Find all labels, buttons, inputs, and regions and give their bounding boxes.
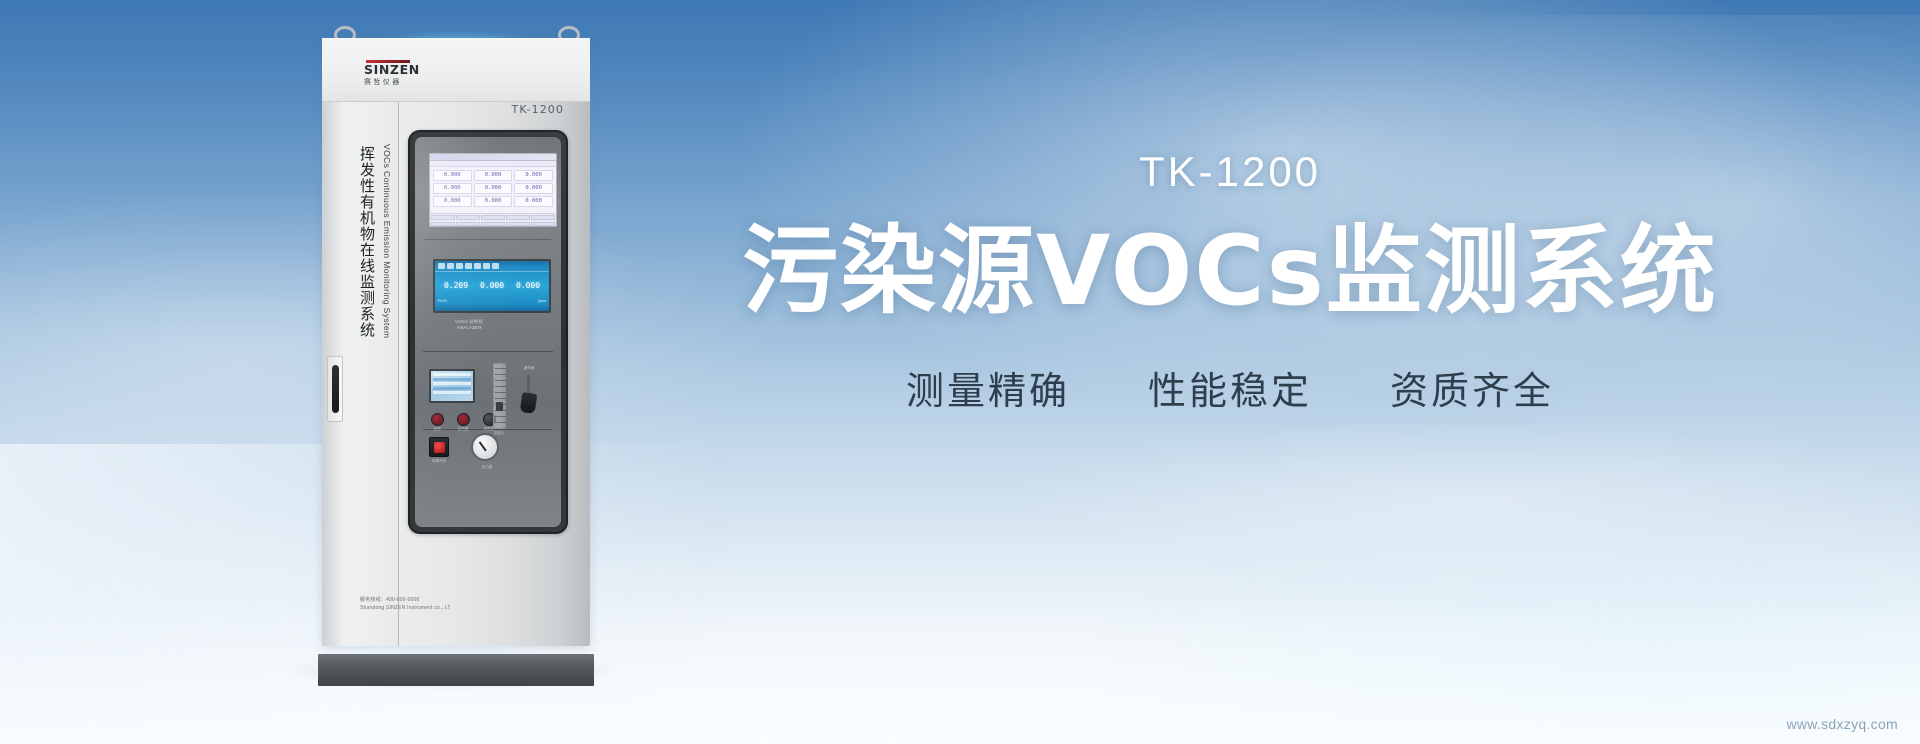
valve-lever	[520, 392, 538, 414]
hmi-footer-toolbar	[430, 213, 556, 226]
flowmeter-float	[496, 402, 503, 411]
hmi-cell: 0.000	[433, 196, 472, 207]
lcd-left-tag: RUN	[438, 298, 447, 303]
hmi-value: 0.000	[515, 172, 552, 179]
product-model-heading: TK-1200	[690, 148, 1770, 196]
secondary-display-row	[433, 391, 471, 394]
pressure-gauge-label: 压力表	[471, 465, 503, 470]
hmi-footer-button	[531, 222, 555, 227]
analyzer-caption-en: ANALYZER	[455, 325, 483, 331]
analyzer-caption: VOCs 分析仪 ANALYZER	[455, 319, 483, 331]
lcd-readout-row: 0.209 0.000 0.000	[435, 272, 549, 298]
cabinet-service-label: 服务热线：400-000-0000 Shandong SINZEN Instru…	[360, 597, 451, 612]
control-knob-power	[431, 413, 444, 426]
company-name-en: Shandong SINZEN Instrument co., LT	[360, 605, 451, 613]
hmi-footer-button	[481, 215, 505, 220]
pressure-gauge-needle	[479, 442, 487, 452]
lcd-status-row: RUN ppm	[435, 298, 549, 303]
lcd-status-icon	[474, 263, 481, 269]
lcd-status-icon	[465, 263, 472, 269]
interior-divider	[423, 429, 553, 430]
interior-divider	[423, 351, 553, 352]
lcd-status-icon	[447, 263, 454, 269]
brand-logo: SINZEN 赛哲仪器	[364, 60, 434, 86]
hmi-value: 0.000	[515, 198, 552, 205]
hmi-value: 0.000	[475, 172, 512, 179]
control-knob-heater	[457, 413, 470, 426]
hmi-footer-button	[506, 215, 530, 220]
power-switch	[429, 437, 449, 457]
secondary-display-row	[433, 382, 471, 385]
hmi-footer-button	[456, 222, 480, 227]
hmi-cell: 0.000	[433, 170, 472, 181]
cabinet-door-interior: 0.000 0.000 0.000 0.000 0.000 0.000 0.00…	[415, 137, 561, 527]
feature-list: 测量精确 性能稳定 资质齐全	[690, 360, 1770, 415]
hmi-cell: 0.000	[514, 170, 553, 181]
flowmeter-scale	[495, 368, 506, 424]
vertical-label-en: VOCs Continuous Emission Monitoring Syst…	[382, 144, 392, 338]
hmi-cell: 0.000	[474, 183, 513, 194]
feature-item-stability: 性能稳定	[1148, 360, 1312, 415]
cabinet-glass-door: 0.000 0.000 0.000 0.000 0.000 0.000 0.00…	[408, 130, 568, 534]
pressure-gauge: 压力表	[471, 433, 499, 461]
banner-copy-block: TK-1200 污染源VOCs监测系统 测量精确 性能稳定 资质齐全	[690, 148, 1770, 415]
lcd-status-icon	[483, 263, 490, 269]
hmi-cell: 0.000	[474, 196, 513, 207]
lcd-value: 0.000	[516, 281, 540, 290]
analyzer-caption-cn: VOCs 分析仪	[455, 319, 483, 325]
lcd-value: 0.000	[480, 281, 504, 290]
hmi-cell: 0.000	[433, 183, 472, 194]
dot-mesh-terrain	[0, 444, 1920, 744]
cabinet-body: SINZEN 赛哲仪器 TK-1200 挥发性有机物在线监测系统 VOCs Co…	[322, 38, 590, 646]
lcd-status-icon	[438, 263, 445, 269]
service-hotline: 服务热线：400-000-0000	[360, 597, 451, 605]
lcd-right-tag: ppm	[538, 298, 546, 303]
hmi-value-grid: 0.000 0.000 0.000 0.000 0.000 0.000 0.00…	[430, 167, 556, 210]
hmi-footer-row	[430, 221, 556, 228]
secondary-display-rows	[431, 371, 473, 396]
hmi-value: 0.000	[434, 185, 471, 192]
manual-valve: 调节阀	[521, 375, 537, 421]
cabinet-model-badge: TK-1200	[512, 103, 564, 116]
lcd-status-icon	[492, 263, 499, 269]
feature-item-accuracy: 测量精确	[906, 360, 1070, 415]
hmi-cell: 0.000	[514, 196, 553, 207]
hmi-value: 0.000	[434, 172, 471, 179]
hmi-value: 0.000	[434, 198, 471, 205]
hmi-value: 0.000	[475, 198, 512, 205]
hmi-value: 0.000	[475, 185, 512, 192]
hmi-touch-panel: 0.000 0.000 0.000 0.000 0.000 0.000 0.00…	[429, 153, 557, 227]
cabinet-plinth-base	[318, 654, 594, 686]
hmi-footer-button	[531, 215, 555, 220]
secondary-display-row	[433, 378, 471, 381]
door-handle-grip	[332, 365, 339, 413]
power-switch-label: 电源开关	[420, 459, 458, 464]
vertical-label-cn: 挥发性有机物在线监测系统	[358, 146, 378, 338]
lcd-status-icon	[456, 263, 463, 269]
brand-name: SINZEN	[364, 64, 434, 77]
hmi-footer-button	[431, 215, 455, 220]
hmi-footer-button	[456, 215, 480, 220]
hmi-footer-button	[506, 222, 530, 227]
secondary-color-display	[429, 369, 475, 403]
lcd-value: 0.209	[444, 281, 468, 290]
hmi-footer-button	[481, 222, 505, 227]
hmi-footer-button	[431, 222, 455, 227]
hmi-cell: 0.000	[474, 170, 513, 181]
banner-headline: 污染源VOCs监测系统	[690, 220, 1770, 324]
hmi-title-bar	[430, 154, 556, 161]
analyzer-lcd-display: 0.209 0.000 0.000 RUN ppm	[433, 259, 551, 313]
door-handle	[327, 356, 343, 422]
cabinet-left-pillar	[322, 38, 398, 646]
brand-name-cn: 赛哲仪器	[364, 79, 434, 86]
cabinet-header-panel	[322, 38, 590, 102]
hmi-cell: 0.000	[514, 183, 553, 194]
lcd-icon-row	[435, 261, 549, 272]
secondary-display-row	[433, 387, 471, 390]
secondary-display-row	[433, 373, 471, 376]
feature-item-certification: 资质齐全	[1390, 360, 1554, 415]
valve-label: 调节阀	[515, 366, 543, 371]
product-banner: SINZEN 赛哲仪器 TK-1200 挥发性有机物在线监测系统 VOCs Co…	[0, 0, 1920, 744]
interior-divider	[425, 239, 551, 240]
hmi-value: 0.000	[515, 185, 552, 192]
site-watermark: www.sdxzyq.com	[1786, 716, 1898, 732]
flowmeter	[493, 363, 506, 429]
power-switch-indicator	[434, 442, 445, 453]
cabinet-seam	[398, 38, 399, 646]
product-cabinet-image: SINZEN 赛哲仪器 TK-1200 挥发性有机物在线监测系统 VOCs Co…	[322, 26, 590, 686]
